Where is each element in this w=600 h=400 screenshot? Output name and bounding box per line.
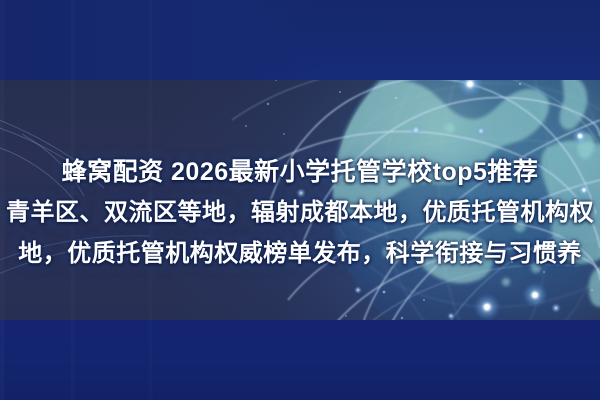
headline-text-block: 蜂窝配资 2026最新小学托管学校top5推荐 青羊区、双流区等地，辐射成都本地… (0, 152, 600, 274)
headline-line-3: 地，优质托管机构权威榜单发布，科学衔接与习惯养 (0, 233, 600, 274)
promo-banner-image: 蜂窝配资 2026最新小学托管学校top5推荐 青羊区、双流区等地，辐射成都本地… (0, 0, 600, 400)
headline-line-2: 青羊区、双流区等地，辐射成都本地，优质托管机构权 (0, 192, 600, 233)
bottom-color-band (0, 320, 600, 400)
headline-line-1: 蜂窝配资 2026最新小学托管学校top5推荐 (0, 152, 600, 192)
top-color-band-left (0, 0, 330, 80)
